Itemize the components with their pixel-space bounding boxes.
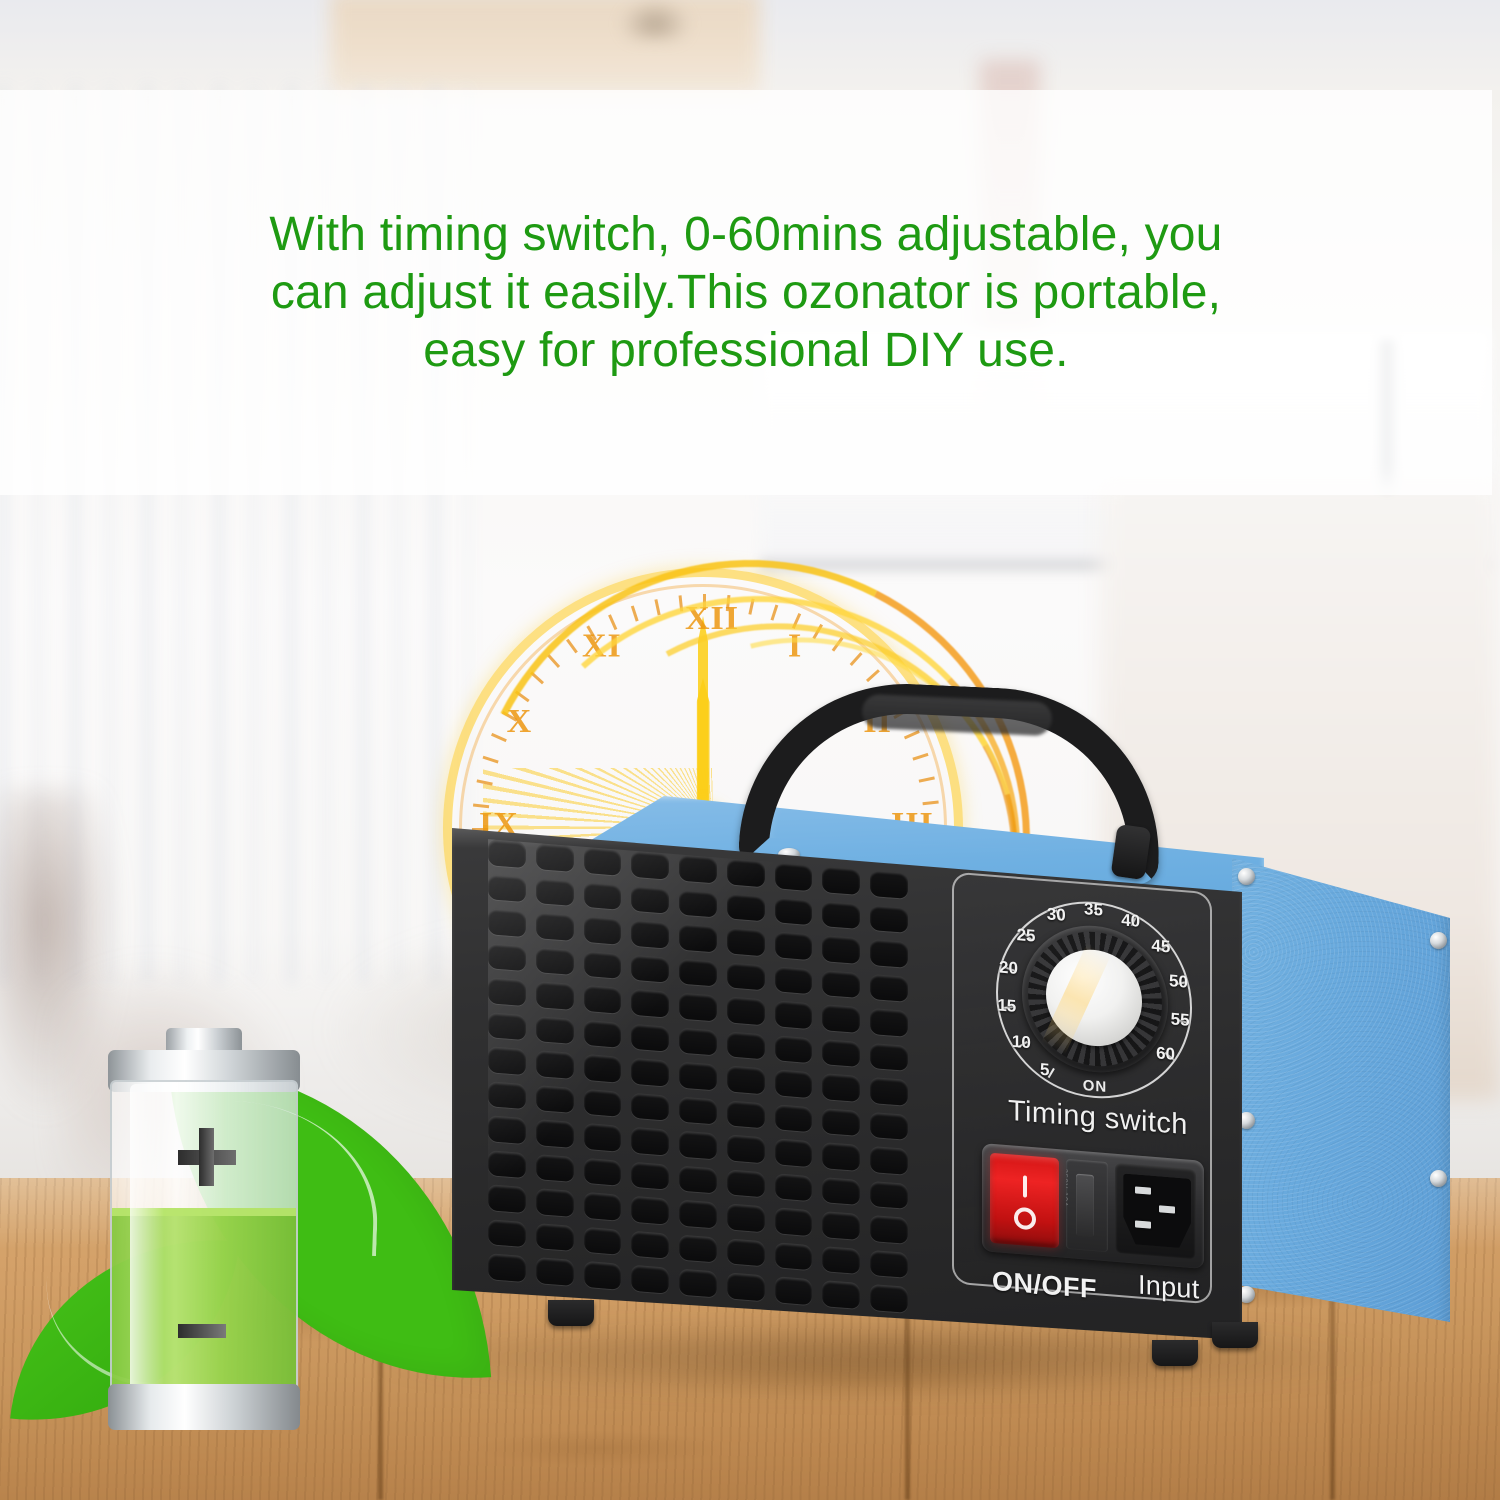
power-control-block: 250V 10A bbox=[982, 1143, 1204, 1269]
vent-slot bbox=[727, 858, 765, 887]
vent-slot bbox=[727, 1238, 765, 1267]
fuse-holder[interactable]: 250V 10A bbox=[1066, 1159, 1108, 1252]
vent-slot bbox=[631, 851, 669, 880]
vent-slot bbox=[775, 862, 813, 891]
vent-slot bbox=[488, 874, 526, 903]
vent-slot bbox=[631, 1127, 669, 1156]
vent-slot bbox=[584, 1227, 622, 1256]
ceiling-lamp bbox=[620, 0, 690, 40]
headline-line-1: With timing switch, 0-60mins adjustable,… bbox=[269, 211, 1222, 259]
vent-slot bbox=[536, 1016, 574, 1045]
vent-slot bbox=[870, 939, 908, 968]
eco-battery-graphic bbox=[20, 1000, 440, 1480]
vent-slot bbox=[870, 1284, 908, 1313]
vent-slot bbox=[870, 973, 908, 1002]
vent-slot bbox=[775, 1208, 813, 1237]
vent-slot bbox=[536, 912, 574, 941]
vent-slot bbox=[727, 1066, 765, 1095]
headline-text-block: With timing switch, 0-60mins adjustable,… bbox=[0, 90, 1492, 495]
vent-slot bbox=[631, 885, 669, 914]
vent-slot bbox=[822, 1246, 860, 1275]
vent-slot bbox=[536, 1154, 574, 1183]
vent-slot bbox=[775, 897, 813, 926]
vent-slot bbox=[822, 970, 860, 999]
vent-slot bbox=[775, 1277, 813, 1306]
vent-slot bbox=[727, 1100, 765, 1129]
vent-slot bbox=[822, 1280, 860, 1309]
vent-slot bbox=[870, 904, 908, 933]
vent-slot bbox=[727, 1169, 765, 1198]
vent-slot bbox=[679, 1062, 717, 1091]
vent-slot bbox=[488, 1081, 526, 1110]
vent-slot bbox=[727, 1135, 765, 1164]
vent-slot bbox=[679, 924, 717, 953]
dial-number: 55 bbox=[1171, 1009, 1190, 1031]
vent-slot bbox=[870, 1250, 908, 1279]
vent-slot bbox=[488, 977, 526, 1006]
handle-joint bbox=[1111, 824, 1152, 880]
plus-icon bbox=[178, 1128, 236, 1186]
fuse-bar bbox=[1076, 1174, 1094, 1237]
vent-slot bbox=[870, 1181, 908, 1210]
dial-number: 30 bbox=[1047, 904, 1066, 926]
dial-on-label: ON bbox=[1083, 1077, 1108, 1096]
vent-slot bbox=[775, 1035, 813, 1064]
vent-slot bbox=[631, 989, 669, 1018]
socket-pin bbox=[1135, 1186, 1151, 1194]
vent-slot bbox=[584, 1089, 622, 1118]
vent-slot bbox=[775, 966, 813, 995]
vent-slot bbox=[679, 1234, 717, 1263]
dial-number: 25 bbox=[1017, 925, 1036, 947]
vent-slot bbox=[584, 985, 622, 1014]
vent-slot bbox=[727, 1273, 765, 1302]
vent-slot bbox=[631, 1231, 669, 1260]
power-inlet-socket[interactable] bbox=[1115, 1163, 1196, 1259]
vent-slot bbox=[679, 1096, 717, 1125]
socket-pin bbox=[1135, 1220, 1151, 1228]
vent-slot bbox=[631, 1196, 669, 1225]
input-label: Input bbox=[1138, 1270, 1200, 1306]
vent-slot bbox=[679, 993, 717, 1022]
vent-slot bbox=[584, 1261, 622, 1290]
vent-slot bbox=[679, 1269, 717, 1298]
vent-slot bbox=[870, 1077, 908, 1106]
vent-slot bbox=[775, 1104, 813, 1133]
ceiling-panel bbox=[330, 0, 760, 94]
dial-number: 35 bbox=[1084, 899, 1103, 921]
battery-glass-highlight bbox=[130, 1084, 164, 1396]
vent-slot bbox=[536, 981, 574, 1010]
dial-number: 60 bbox=[1156, 1043, 1175, 1065]
vent-slot bbox=[822, 1004, 860, 1033]
dial-number: 40 bbox=[1121, 910, 1140, 932]
dial-number: 15 bbox=[997, 995, 1016, 1017]
battery-base bbox=[108, 1384, 300, 1430]
vent-slot bbox=[536, 1119, 574, 1148]
vent-slot bbox=[488, 1012, 526, 1041]
vent-slot bbox=[584, 1123, 622, 1152]
vent-slot bbox=[584, 881, 622, 910]
side-screw bbox=[1238, 868, 1255, 885]
vent-slot bbox=[536, 947, 574, 976]
vent-slot bbox=[822, 1108, 860, 1137]
vent-slot bbox=[775, 1138, 813, 1167]
vent-slot bbox=[870, 1112, 908, 1141]
vent-slot bbox=[679, 958, 717, 987]
vent-slot bbox=[536, 1188, 574, 1217]
power-off-symbol bbox=[1014, 1207, 1036, 1231]
vent-slot bbox=[727, 1204, 765, 1233]
power-rocker-switch[interactable] bbox=[990, 1153, 1059, 1249]
vent-slot bbox=[488, 839, 526, 868]
machine-side-panel bbox=[1232, 852, 1450, 1352]
panel-texture bbox=[1232, 852, 1450, 1352]
vent-slot bbox=[631, 1092, 669, 1121]
minus-icon bbox=[178, 1324, 226, 1338]
vent-slot bbox=[822, 1039, 860, 1068]
vent-slot bbox=[631, 954, 669, 983]
product-marketing-image: XIIIIIIIIIVVVIVIIVIIIIXXXI bbox=[0, 0, 1500, 1500]
vent-slot bbox=[536, 1085, 574, 1114]
vent-slot bbox=[584, 950, 622, 979]
vent-slot bbox=[536, 1223, 574, 1252]
power-on-symbol bbox=[1023, 1175, 1027, 1197]
rubber-foot bbox=[548, 1300, 594, 1326]
vent-slot bbox=[584, 1019, 622, 1048]
vent-slot bbox=[631, 1058, 669, 1087]
vent-slot bbox=[488, 1150, 526, 1179]
vent-slot bbox=[679, 1200, 717, 1229]
vent-slot bbox=[870, 1215, 908, 1244]
vent-slot bbox=[775, 1242, 813, 1271]
vent-slot bbox=[822, 1177, 860, 1206]
vent-slot bbox=[631, 1265, 669, 1294]
vent-slot bbox=[488, 1254, 526, 1283]
vent-slot bbox=[488, 1184, 526, 1213]
vent-slot bbox=[727, 962, 765, 991]
vent-slot bbox=[822, 901, 860, 930]
vent-slot bbox=[679, 1131, 717, 1160]
vent-slot bbox=[870, 1043, 908, 1072]
vent-slot bbox=[679, 854, 717, 883]
vent-slot bbox=[775, 1069, 813, 1098]
dial-number: 20 bbox=[999, 957, 1018, 979]
vent-slot bbox=[536, 1257, 574, 1286]
dial-number: 5 bbox=[1040, 1060, 1049, 1081]
headline-line-2: can adjust it easily.This ozonator is po… bbox=[271, 269, 1221, 317]
vent-slot bbox=[488, 1219, 526, 1248]
ozone-generator: 51015202530354045505560 ON Timing switch… bbox=[452, 700, 1452, 1360]
vent-slot bbox=[536, 1050, 574, 1079]
fuse-rating-text: 250V 10A bbox=[1066, 1168, 1068, 1207]
dial-number: 50 bbox=[1169, 971, 1188, 993]
vent-slot bbox=[727, 927, 765, 956]
vent-slot bbox=[488, 1115, 526, 1144]
socket-pin bbox=[1159, 1205, 1175, 1213]
vent-slot bbox=[870, 870, 908, 899]
vent-slot bbox=[679, 1165, 717, 1194]
vent-slot bbox=[631, 920, 669, 949]
vent-slot bbox=[679, 1027, 717, 1056]
vent-slot bbox=[822, 1142, 860, 1171]
rubber-foot bbox=[1212, 1322, 1258, 1348]
dial-number: 45 bbox=[1151, 936, 1170, 958]
vent-slot bbox=[822, 1211, 860, 1240]
vent-slot bbox=[775, 1173, 813, 1202]
vent-slot bbox=[870, 1146, 908, 1175]
vent-slot bbox=[822, 1073, 860, 1102]
vent-slot bbox=[822, 866, 860, 895]
vent-slot bbox=[727, 996, 765, 1025]
vent-slot bbox=[584, 916, 622, 945]
vent-slot bbox=[488, 943, 526, 972]
timing-dial[interactable]: 51015202530354045505560 ON bbox=[990, 888, 1200, 1111]
vent-slot bbox=[822, 935, 860, 964]
vent-slot bbox=[536, 877, 574, 906]
side-screw bbox=[1430, 932, 1447, 949]
vent-slot bbox=[775, 1000, 813, 1029]
vent-slot bbox=[584, 1158, 622, 1187]
vent-slot bbox=[584, 1192, 622, 1221]
vent-slot bbox=[631, 1023, 669, 1052]
side-screw bbox=[1430, 1170, 1447, 1187]
headline-line-3: easy for professional DIY use. bbox=[423, 327, 1068, 375]
vent-grille bbox=[488, 839, 908, 1313]
vent-slot bbox=[488, 1046, 526, 1075]
vent-slot bbox=[727, 893, 765, 922]
vent-slot bbox=[584, 847, 622, 876]
vent-slot bbox=[584, 1054, 622, 1083]
vent-slot bbox=[679, 889, 717, 918]
vent-slot bbox=[870, 1008, 908, 1037]
vent-slot bbox=[631, 1161, 669, 1190]
vent-slot bbox=[727, 1031, 765, 1060]
rubber-foot bbox=[1152, 1340, 1198, 1366]
vent-slot bbox=[775, 931, 813, 960]
dial-number: 10 bbox=[1012, 1032, 1031, 1054]
battery-icon bbox=[106, 1028, 302, 1428]
vent-slot bbox=[488, 908, 526, 937]
vent-slot bbox=[536, 843, 574, 872]
